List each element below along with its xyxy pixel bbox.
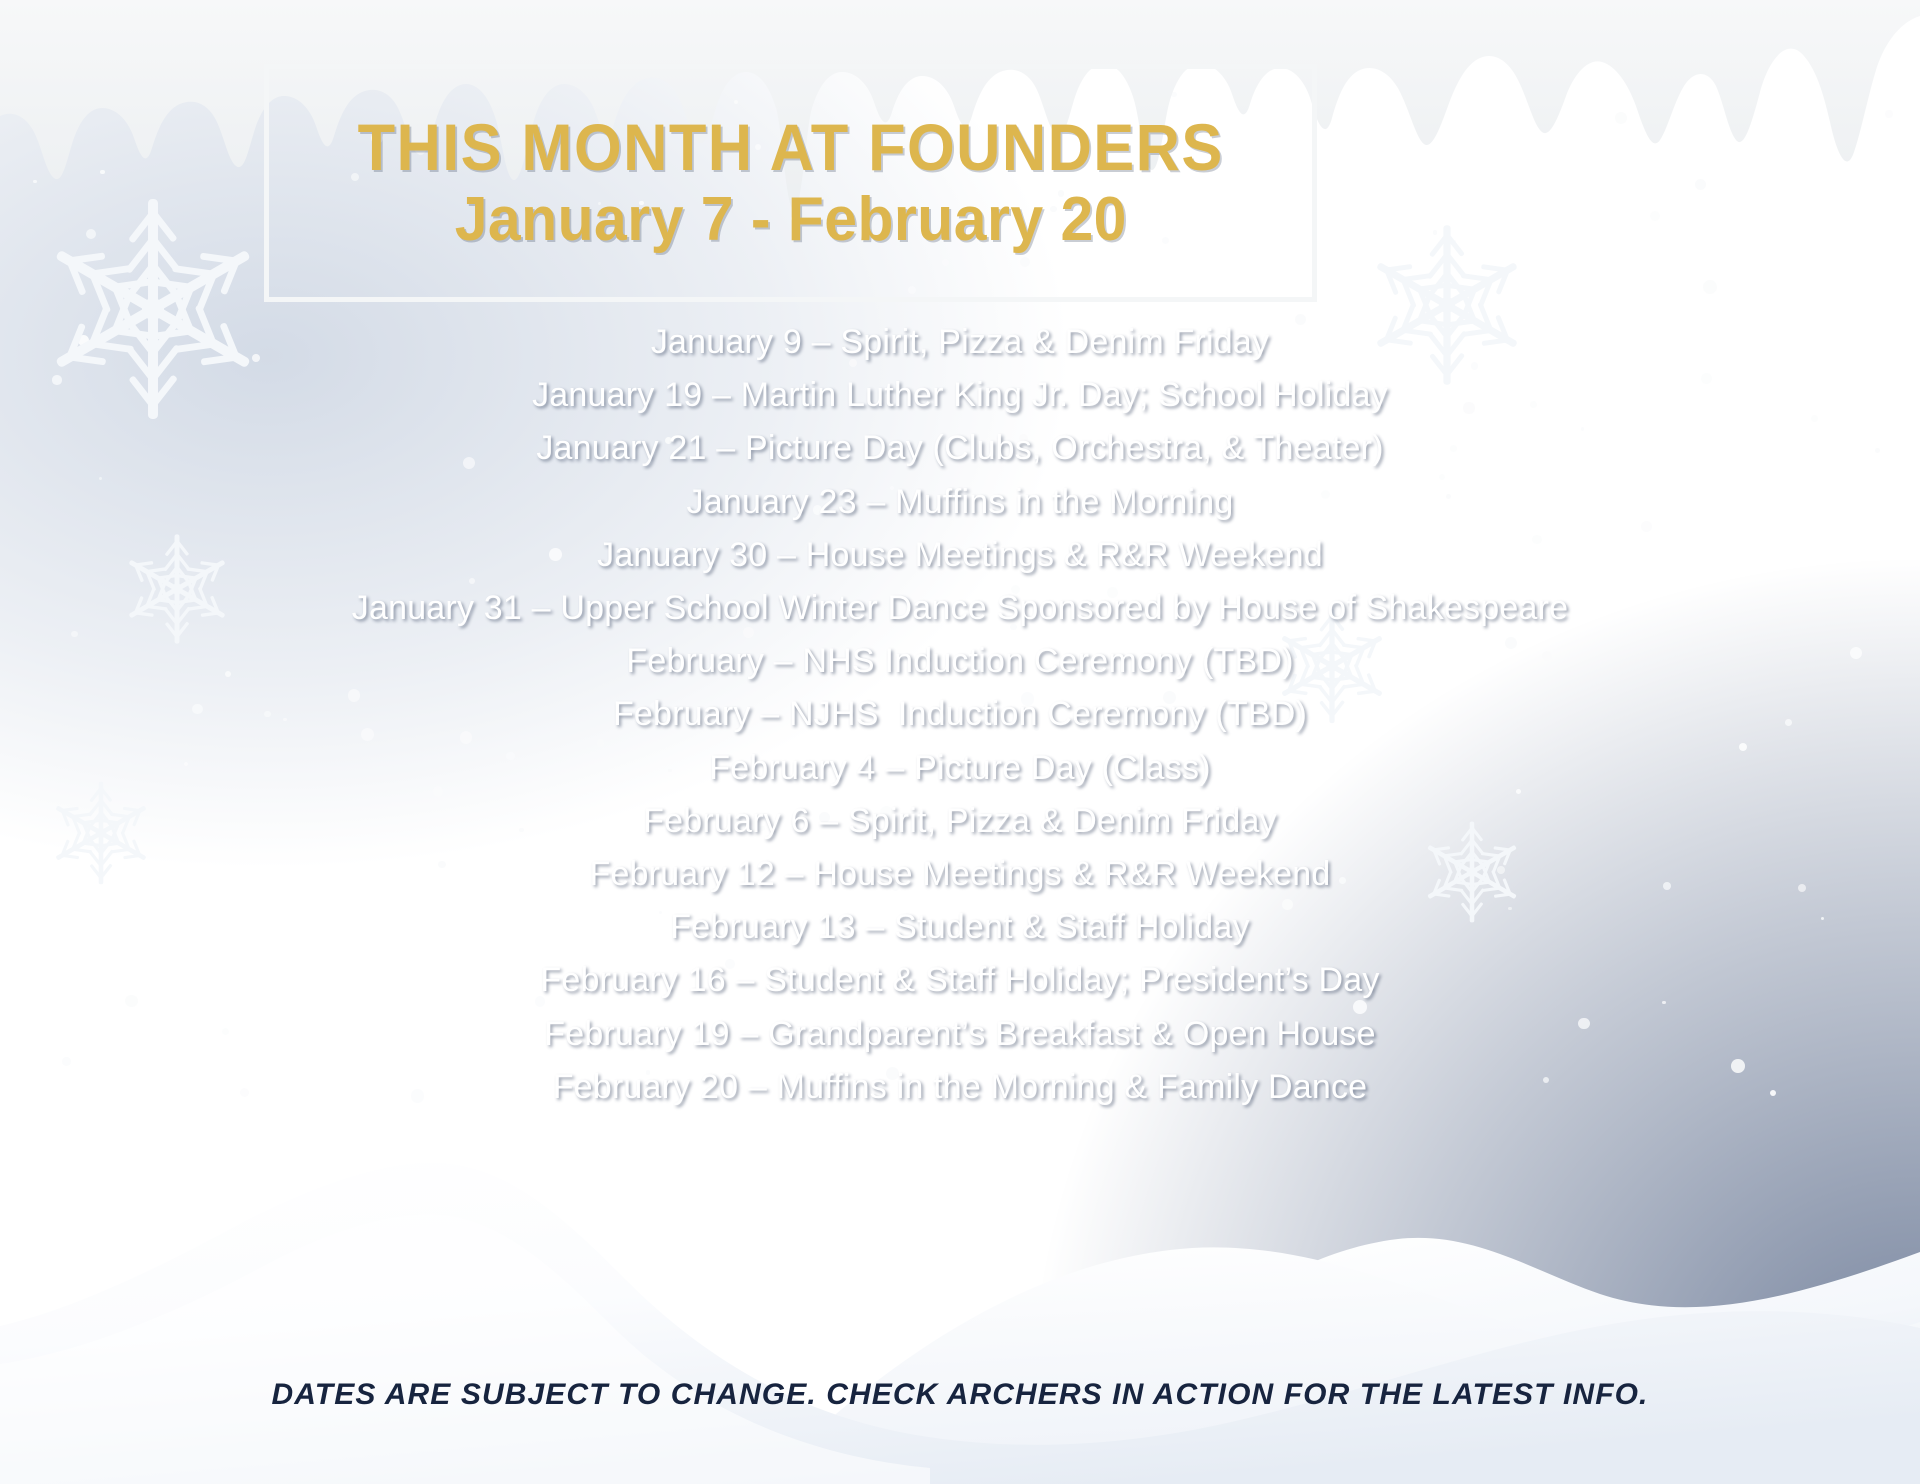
event-list-item: February 16 – Student & Staff Holiday; P…	[0, 954, 1920, 1007]
winter-events-poster: THIS MONTH AT FOUNDERS January 7 - Febru…	[0, 0, 1920, 1484]
event-list-item: February – NHS Induction Ceremony (TBD)	[0, 635, 1920, 688]
page-title: THIS MONTH AT FOUNDERS	[357, 114, 1223, 181]
event-list-item: February 13 – Student & Staff Holiday	[0, 901, 1920, 954]
event-list-item: February 12 – House Meetings & R&R Weeke…	[0, 848, 1920, 901]
footer-disclaimer: DATES ARE SUBJECT TO CHANGE. CHECK ARCHE…	[0, 1378, 1920, 1412]
event-list-item: February 4 – Picture Day (Class)	[0, 742, 1920, 795]
event-list-item: January 31 – Upper School Winter Dance S…	[0, 582, 1920, 635]
footer-text: DATES ARE SUBJECT TO CHANGE. CHECK ARCHE…	[271, 1378, 1648, 1411]
event-list-item: February 20 – Muffins in the Morning & F…	[0, 1061, 1920, 1114]
event-list-item: February 19 – Grandparent’s Breakfast & …	[0, 1008, 1920, 1061]
date-range-subtitle: January 7 - February 20	[454, 187, 1126, 252]
title-block: THIS MONTH AT FOUNDERS January 7 - Febru…	[264, 64, 1317, 302]
event-list-item: February – NJHS Induction Ceremony (TBD)	[0, 688, 1920, 741]
event-list-item: January 30 – House Meetings & R&R Weeken…	[0, 529, 1920, 582]
event-list-item: January 21 – Picture Day (Clubs, Orchest…	[0, 422, 1920, 475]
event-list-item: January 9 – Spirit, Pizza & Denim Friday	[0, 316, 1920, 369]
event-list-item: February 6 – Spirit, Pizza & Denim Frida…	[0, 795, 1920, 848]
event-list-item: January 23 – Muffins in the Morning	[0, 476, 1920, 529]
event-list-item: January 19 – Martin Luther King Jr. Day;…	[0, 369, 1920, 422]
event-list: January 9 – Spirit, Pizza & Denim Friday…	[0, 316, 1920, 1114]
